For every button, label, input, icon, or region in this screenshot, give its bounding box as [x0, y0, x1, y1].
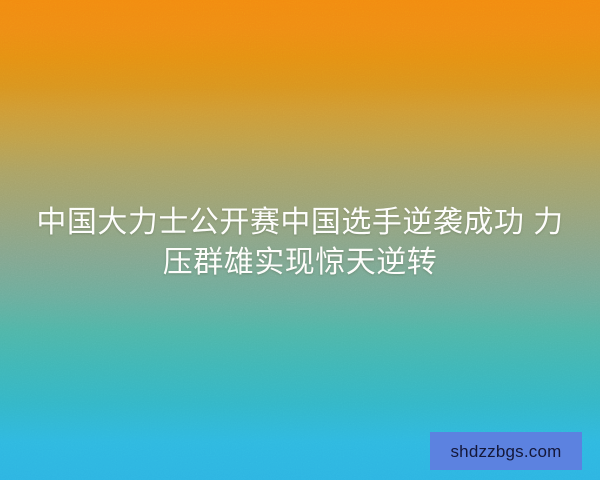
cover-image-canvas: 中国大力士公开赛中国选手逆袭成功 力 压群雄实现惊天逆转 shdzzbgs.co…	[0, 0, 600, 480]
cover-title: 中国大力士公开赛中国选手逆袭成功 力 压群雄实现惊天逆转	[0, 203, 600, 283]
title-line-1: 中国大力士公开赛中国选手逆袭成功 力	[28, 203, 572, 243]
watermark-badge: shdzzbgs.com	[430, 432, 582, 470]
title-line-2: 压群雄实现惊天逆转	[28, 243, 572, 283]
watermark-domain-text: shdzzbgs.com	[450, 443, 561, 460]
